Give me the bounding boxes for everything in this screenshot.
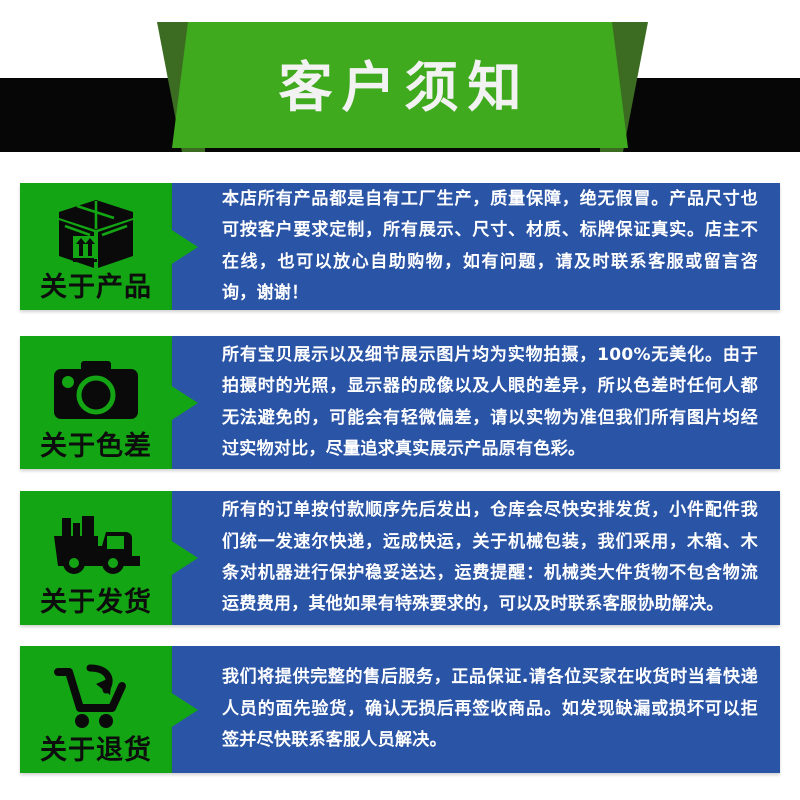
icon-label-shipping: 关于发货 <box>40 589 152 625</box>
text-product: 本店所有产品都是自有工厂生产，质量保障，绝无假冒。产品尺寸也可按客户要求定制，所… <box>172 184 780 310</box>
section-row-color: 关于色差 所有宝贝展示以及细节展示图片均为实物拍摄，100%无美化。由于拍摄时的… <box>0 336 800 469</box>
text-color: 所有宝贝展示以及细节展示图片均为实物拍摄，100%无美化。由于拍摄时的光照，显示… <box>172 340 780 466</box>
page-title: 客户须知 <box>172 22 628 148</box>
text-panel-product: 本店所有产品都是自有工厂生产，质量保障，绝无假冒。产品尺寸也可按客户要求定制，所… <box>172 183 780 310</box>
icon-card-product: 关于产品 <box>20 183 172 310</box>
text-return: 我们将提供完整的售后服务，正品保证.请各位买家在收货时当着快递人员的面先验货，确… <box>172 662 780 756</box>
icon-label-return: 关于退货 <box>40 737 152 773</box>
icon-card-color: 关于色差 <box>20 336 172 469</box>
icon-card-return: 关于退货 <box>20 646 172 773</box>
text-shipping: 所有的订单按付款顺序先后发出，仓库会尽快安排发货，小件配件我们统一发速尔快递，远… <box>172 495 780 621</box>
section-row-shipping: 关于发货 所有的订单按付款顺序先后发出，仓库会尽快安排发货，小件配件我们统一发速… <box>0 491 800 625</box>
package-box-icon <box>46 193 146 274</box>
section-row-product: 关于产品 本店所有产品都是自有工厂生产，质量保障，绝无假冒。产品尺寸也可按客户要… <box>0 183 800 310</box>
icon-label-color: 关于色差 <box>40 433 152 469</box>
header-banner: 客户须知 <box>0 0 800 160</box>
camera-icon <box>46 346 146 433</box>
text-panel-return: 我们将提供完整的售后服务，正品保证.请各位买家在收货时当着快递人员的面先验货，确… <box>172 646 780 773</box>
text-panel-color: 所有宝贝展示以及细节展示图片均为实物拍摄，100%无美化。由于拍摄时的光照，显示… <box>172 336 780 469</box>
section-row-return: 关于退货 我们将提供完整的售后服务，正品保证.请各位买家在收货时当着快递人员的面… <box>0 646 800 773</box>
icon-label-product: 关于产品 <box>40 274 152 310</box>
icon-card-shipping: 关于发货 <box>20 491 172 625</box>
delivery-truck-icon <box>46 501 146 589</box>
text-panel-shipping: 所有的订单按付款顺序先后发出，仓库会尽快安排发货，小件配件我们统一发速尔快递，远… <box>172 491 780 625</box>
return-cart-icon <box>46 656 146 737</box>
